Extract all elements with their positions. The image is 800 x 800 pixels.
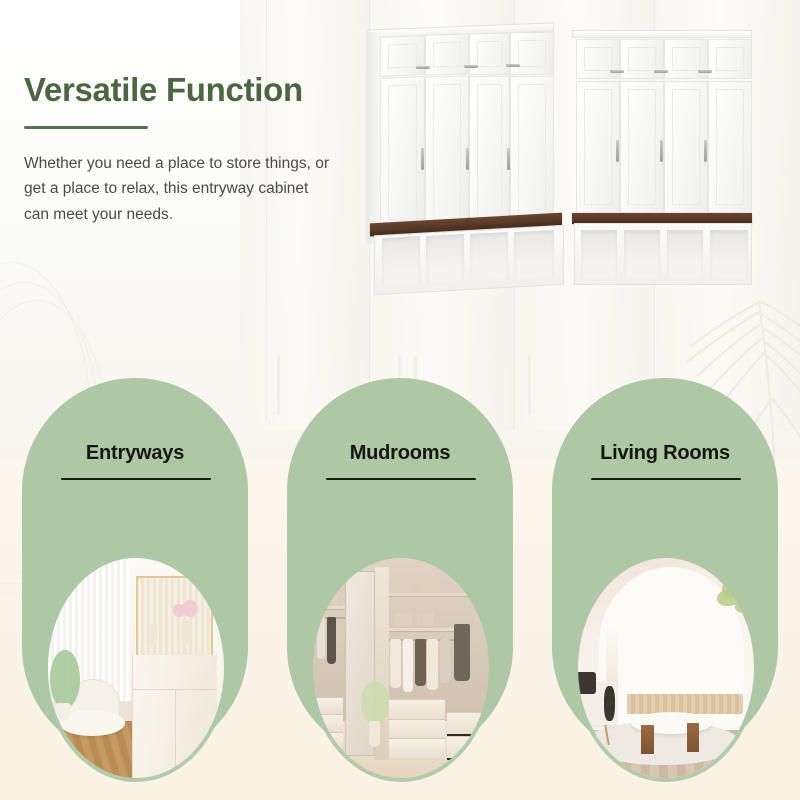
cabinet-side-panel: [366, 31, 380, 245]
headline-body: Whether you need a place to store things…: [24, 151, 336, 226]
cabinet-cubby: [581, 230, 617, 278]
cabinet-handle: [610, 70, 624, 73]
living-room-coffee-table-leg: [641, 725, 653, 754]
cabinet-tall-door: [708, 81, 752, 213]
cabinet-cubby: [426, 234, 464, 283]
cabinet-handle: [660, 140, 663, 162]
cabinet-top-door: [425, 33, 469, 75]
cabinet-cubby: [470, 232, 508, 281]
mudroom-storage-box: [417, 613, 435, 626]
cabinet-top-door: [620, 39, 664, 79]
cabinet-tall-door: [510, 76, 554, 234]
mudroom-plant: [361, 681, 389, 725]
cabinet-cubby: [624, 230, 660, 278]
living-room-console: [627, 694, 743, 714]
category-label-underline: [61, 478, 211, 480]
cabinet-handle: [616, 140, 619, 162]
mudroom-garment: [427, 639, 438, 690]
mudroom-drawer: [313, 714, 343, 732]
category-label: Living Rooms: [552, 442, 778, 465]
cabinet-top-door: [510, 32, 554, 75]
category-photo-entryways: [48, 558, 224, 778]
living-room-cushion: [578, 672, 596, 694]
title-divider: [24, 126, 148, 129]
cabinet-top-door: [664, 39, 708, 79]
product-image-entryway-cabinet-front: [572, 30, 752, 290]
cabinet-tall-door: [380, 76, 425, 229]
cabinet-tall-door: [664, 81, 708, 213]
cabinet-handle: [654, 70, 668, 73]
cabinet-top-door: [469, 33, 510, 76]
cabinet-handle: [704, 140, 707, 162]
mudroom-drawer: [313, 732, 343, 750]
mudroom-storage-box: [394, 578, 413, 591]
cabinet-handle: [507, 148, 510, 170]
mudroom-shelf: [389, 593, 468, 596]
product-image-entryway-cabinet-angled: [360, 22, 560, 292]
cabinet-cubby: [514, 230, 554, 279]
cabinet-tall-door: [469, 76, 510, 233]
cabinet-cubby: [667, 230, 703, 278]
mudroom-drawer: [389, 699, 445, 719]
mudroom-vase: [369, 721, 380, 747]
cabinet-handle: [421, 148, 424, 170]
cabinet-handle: [506, 64, 520, 67]
cabinet-cubby: [382, 236, 420, 285]
cabinet-handle: [466, 148, 469, 170]
living-room-cushion: [604, 686, 615, 721]
category-label-underline: [326, 478, 476, 480]
mudroom-shelf: [313, 606, 345, 609]
cabinet-handle: [416, 66, 430, 69]
cabinet-seam: [175, 689, 176, 778]
mudroom-garment: [327, 617, 336, 663]
cabinet-crown: [572, 30, 752, 38]
promo-banner: Versatile Function Whether you need a pl…: [0, 0, 800, 800]
category-photo-mudrooms: [313, 558, 489, 778]
headline-block: Versatile Function Whether you need a pl…: [24, 72, 354, 227]
cabinet-tall-door: [620, 81, 664, 213]
cabinet-top-door: [576, 39, 620, 79]
mudroom-garment: [454, 624, 470, 681]
mudroom-storage-box: [419, 578, 438, 591]
mudroom-storage-box: [318, 591, 337, 604]
mudroom-drawer: [447, 736, 489, 760]
mudroom-garment: [403, 639, 414, 692]
entryway-fluted-niche: [136, 576, 213, 660]
cabinet-cubby: [710, 230, 748, 278]
entryway-vase: [182, 620, 193, 644]
mudroom-drawer: [447, 712, 489, 736]
entryway-cabinet: [132, 655, 217, 778]
page-title: Versatile Function: [24, 72, 354, 108]
cabinet-handle: [698, 70, 712, 73]
mudroom-garment: [317, 617, 326, 659]
living-room-foliage: [735, 598, 754, 613]
background-door-handle: [528, 355, 531, 415]
mudroom-drawer: [389, 738, 445, 758]
category-label: Entryways: [22, 442, 248, 465]
mudroom-garment: [390, 639, 401, 687]
mudroom-storage-box: [394, 613, 412, 626]
entryway-planter: [55, 703, 71, 721]
category-label: Mudrooms: [287, 442, 513, 465]
mudroom-drawer: [313, 697, 343, 715]
living-room-coffee-table-leg: [687, 723, 699, 752]
cabinet-handle: [464, 65, 478, 68]
entryway-vase: [148, 624, 157, 644]
entryway-plant: [50, 650, 80, 707]
mudroom-garment: [415, 639, 426, 685]
cabinet-top-door: [708, 39, 752, 79]
cabinet-top-door: [380, 35, 425, 77]
mudroom-garment: [440, 639, 451, 683]
category-label-underline: [591, 478, 741, 480]
cabinet-tall-door: [425, 75, 469, 230]
cabinet-tall-door: [576, 81, 620, 213]
category-photo-living-rooms: [578, 558, 754, 778]
mudroom-drawer: [389, 719, 445, 739]
background-door-handle: [277, 355, 280, 415]
